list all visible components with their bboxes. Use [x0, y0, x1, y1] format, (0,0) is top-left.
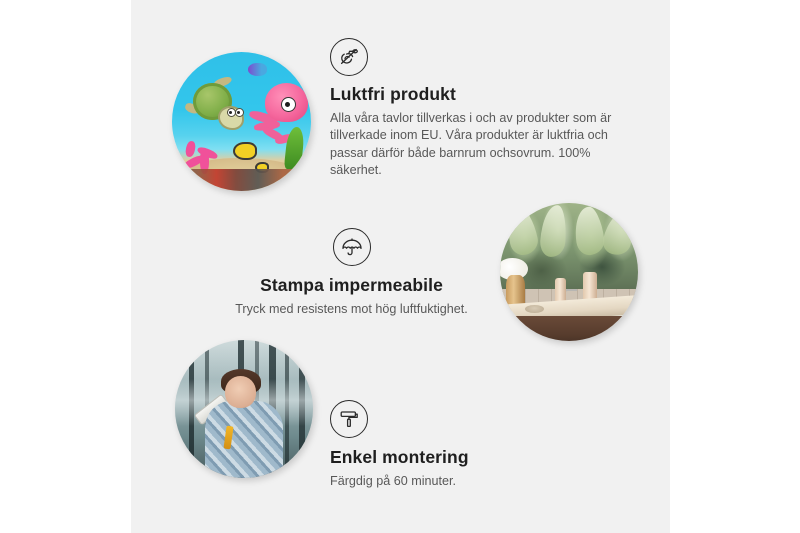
- underwater-yellow-fish: [233, 142, 257, 160]
- product-image-bathroom-tropical-wallpaper[interactable]: [500, 203, 638, 341]
- underwater-blue-fish: [248, 63, 266, 76]
- no-scent-perfume-bottle-icon: [330, 38, 368, 76]
- underwater-turtle: [189, 80, 247, 130]
- product-image-underwater-kids-scene[interactable]: [172, 52, 311, 191]
- product-feature-panel: Luktfri produkt Alla våra tavlor tillver…: [131, 0, 670, 533]
- paint-roller-icon: [330, 400, 368, 438]
- feature-title: Stampa impermeabile: [214, 275, 489, 297]
- product-image-woman-with-paint-roller[interactable]: [175, 340, 313, 478]
- umbrella-icon: [333, 228, 371, 266]
- feature-waterproof: Stampa impermeabile Tryck med resistens …: [214, 228, 489, 318]
- underwater-coral: [180, 130, 227, 174]
- screenshot-root: Luktfri produkt Alla våra tavlor tillver…: [0, 0, 800, 533]
- feature-odourless: Luktfri produkt Alla våra tavlor tillver…: [330, 38, 620, 179]
- bathroom-cabinet: [511, 316, 638, 341]
- feature-description: Tryck med resistens mot hög luftfuktighe…: [214, 301, 489, 318]
- person-plaid-shirt: [205, 401, 282, 478]
- feature-title: Enkel montering: [330, 447, 590, 469]
- feature-description: Alla våra tavlor tillverkas i och av pro…: [330, 110, 620, 180]
- feature-title: Luktfri produkt: [330, 84, 620, 106]
- feature-easy-mounting: Enkel montering Färgdig på 60 minuter.: [330, 400, 590, 490]
- underwater-reef-floor: [172, 169, 311, 191]
- person-face: [225, 376, 257, 408]
- feature-description: Färgdig på 60 minuter.: [330, 473, 590, 490]
